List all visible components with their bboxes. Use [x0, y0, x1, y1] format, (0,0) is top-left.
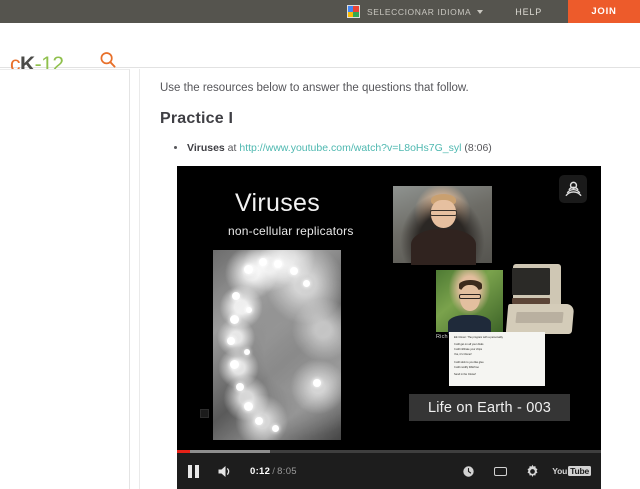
volume-icon	[217, 464, 234, 479]
settings-gear-icon	[525, 464, 540, 479]
channel-watermark-icon[interactable]	[559, 175, 587, 203]
poem-line: Elk Cloner: The program with a personali…	[454, 336, 540, 341]
youtube-logo-tube: Tube	[568, 466, 591, 476]
subtitles-button[interactable]	[484, 453, 516, 489]
time-display: 0:12/8:05	[250, 466, 297, 477]
watch-later-button[interactable]	[452, 453, 484, 489]
watch-later-icon	[462, 465, 475, 478]
resource-duration: (8:06)	[464, 142, 491, 154]
settings-button[interactable]	[516, 453, 548, 489]
language-selector[interactable]: SELECCIONAR IDIOMA	[367, 7, 483, 17]
time-separator: /	[272, 466, 275, 477]
resource-name: Viruses	[187, 142, 225, 154]
poem-line: It will modify RAM too	[454, 366, 540, 371]
chevron-down-icon	[477, 10, 483, 14]
page-title: Practice I	[160, 110, 620, 128]
language-selector-label: SELECCIONAR IDIOMA	[367, 7, 471, 17]
youtube-logo[interactable]: YouTube	[552, 466, 591, 476]
photo-rich-skrenta	[436, 270, 503, 332]
intro-text: Use the resources below to answer the qu…	[160, 69, 620, 96]
video-slide-title: Viruses	[235, 189, 320, 218]
list-item: Viruses at http://www.youtube.com/watch?…	[187, 141, 620, 157]
poem-line: Send in the Cloner!	[454, 373, 540, 378]
help-link[interactable]: HELP	[515, 7, 542, 17]
poem-line: Yes, it's Cloner!	[454, 353, 540, 358]
resource-connector: at	[228, 142, 237, 154]
resource-list: Viruses at http://www.youtube.com/watch?…	[160, 141, 620, 157]
resource-link[interactable]: http://www.youtube.com/watch?v=L8oHs7G_s…	[239, 142, 461, 154]
webcam-speaker-main	[393, 186, 492, 263]
virus-micrograph-image	[213, 250, 341, 440]
volume-button[interactable]	[209, 453, 241, 489]
current-time: 0:12	[250, 466, 270, 477]
top-utility-bar: SELECCIONAR IDIOMA HELP JOIN	[0, 0, 640, 23]
youtube-video-player[interactable]: Viruses non-cellular replicators	[177, 166, 601, 489]
left-sidebar-panel	[0, 69, 130, 489]
video-caption-banner: Life on Earth - 003	[409, 394, 570, 421]
pause-icon	[188, 465, 199, 478]
total-time: 8:05	[277, 466, 297, 477]
join-button[interactable]: JOIN	[568, 0, 640, 23]
youtube-logo-you: You	[552, 466, 567, 476]
elk-cloner-poem-sheet: Elk Cloner: The program with a personali…	[449, 332, 545, 386]
video-corner-glyph	[200, 409, 209, 418]
subtitles-icon	[494, 467, 507, 476]
search-icon	[86, 51, 130, 69]
site-header: cK-12 SEARCH	[0, 23, 640, 68]
video-stage[interactable]: Viruses non-cellular replicators	[177, 166, 601, 450]
pause-button[interactable]	[177, 453, 209, 489]
vintage-computer-image	[507, 264, 574, 342]
video-controls-bar: 0:12/8:05 YouTube	[177, 453, 601, 489]
video-slide-subtitle: non-cellular replicators	[228, 224, 354, 238]
google-translate-icon	[347, 5, 360, 18]
